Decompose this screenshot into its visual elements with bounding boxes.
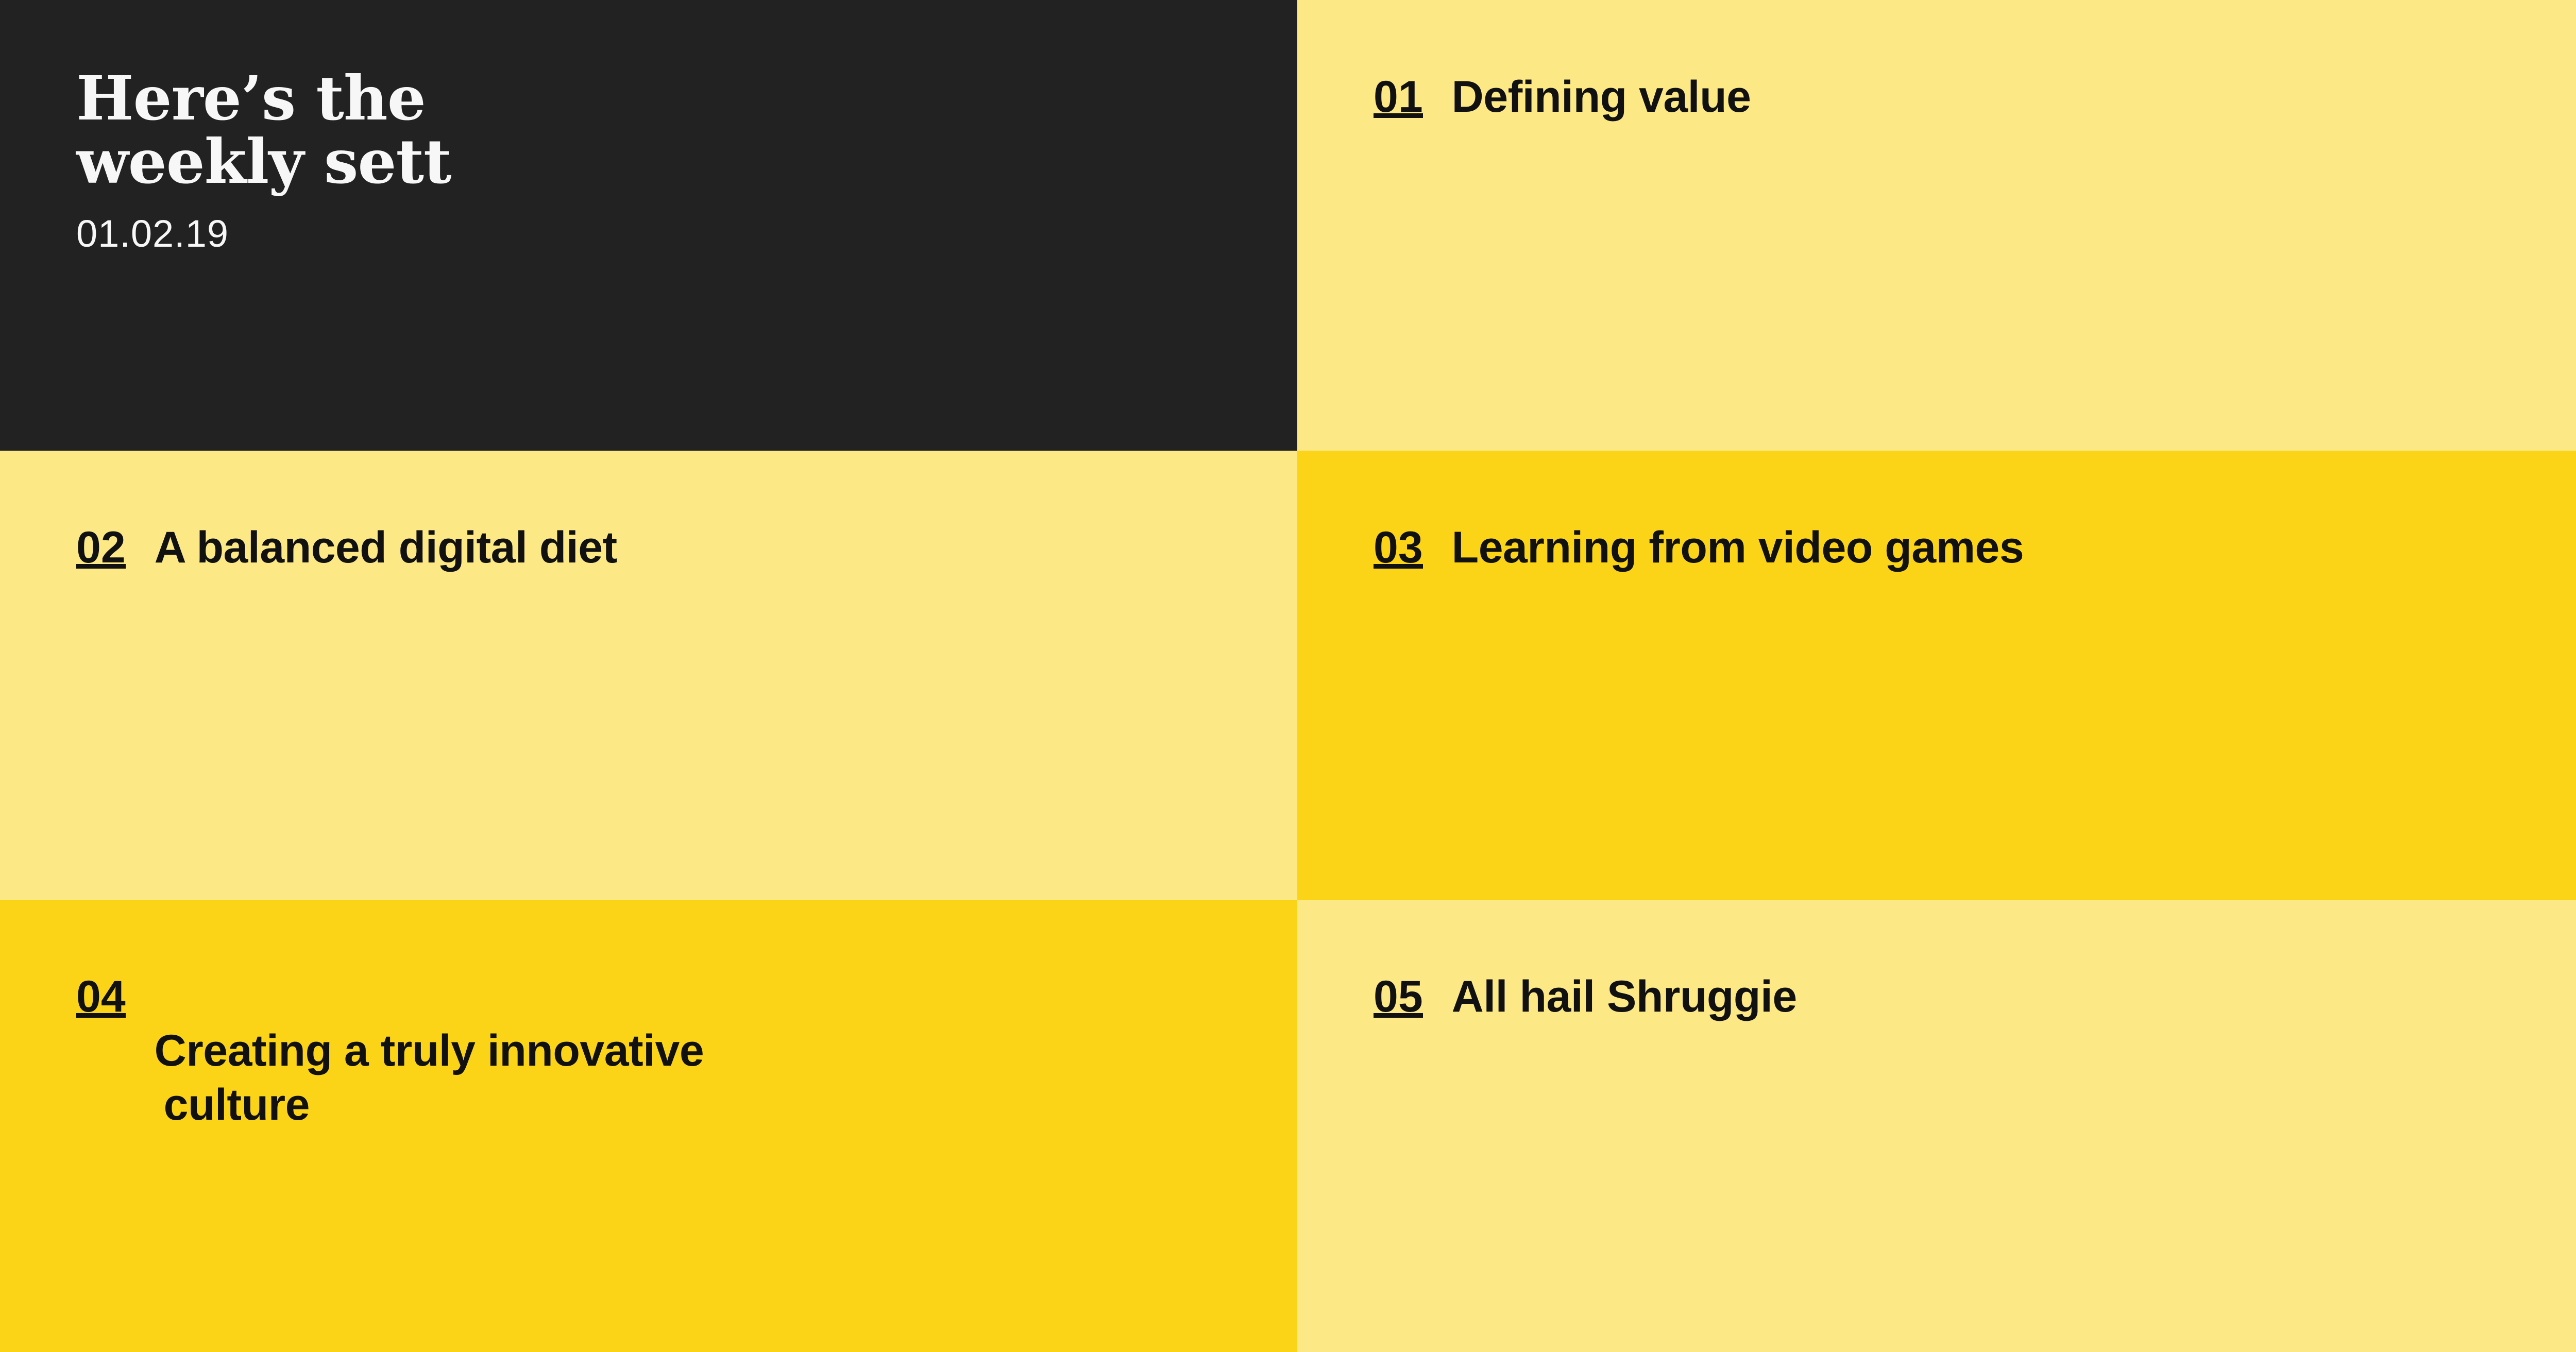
item-label: Creating a truly innovative culture (155, 970, 704, 1186)
item-number-badge: 02 (76, 521, 126, 575)
list-item-02[interactable]: 02 A balanced digital diet (0, 451, 1297, 900)
list-item-content: 02 A balanced digital diet (76, 521, 617, 575)
list-item-content: 03 Learning from video games (1374, 521, 2024, 575)
list-item-05[interactable]: 05 All hail Shruggie (1297, 900, 2576, 1352)
item-number-badge: 05 (1374, 970, 1423, 1024)
list-item-content: 05 All hail Shruggie (1374, 970, 1797, 1024)
item-number-badge: 03 (1374, 521, 1423, 575)
hero-panel: Here’s the weekly sett 01.02.19 (0, 0, 1297, 451)
contents-poster: Here’s the weekly sett 01.02.19 01 Defin… (0, 0, 2576, 1352)
list-item-04[interactable]: 04 Creating a truly innovative culture (0, 900, 1297, 1352)
item-label: A balanced digital diet (155, 521, 617, 575)
item-label: All hail Shruggie (1452, 970, 1797, 1024)
page-title: Here’s the weekly sett (76, 67, 451, 193)
list-item-01[interactable]: 01 Defining value (1297, 0, 2576, 451)
item-label: Learning from video games (1452, 521, 2024, 575)
list-item-content: 01 Defining value (1374, 70, 1751, 124)
list-item-03[interactable]: 03 Learning from video games (1297, 451, 2576, 900)
item-number-badge: 01 (1374, 70, 1423, 124)
item-number-badge: 04 (76, 970, 126, 1024)
item-label-line-1: Creating a truly innovative (155, 1026, 704, 1075)
issue-date: 01.02.19 (76, 215, 451, 253)
item-label: Defining value (1452, 70, 1751, 124)
list-item-content: 04 Creating a truly innovative culture (76, 970, 704, 1186)
hero-text-block: Here’s the weekly sett 01.02.19 (76, 67, 451, 253)
item-label-line-2: culture (155, 1078, 704, 1132)
